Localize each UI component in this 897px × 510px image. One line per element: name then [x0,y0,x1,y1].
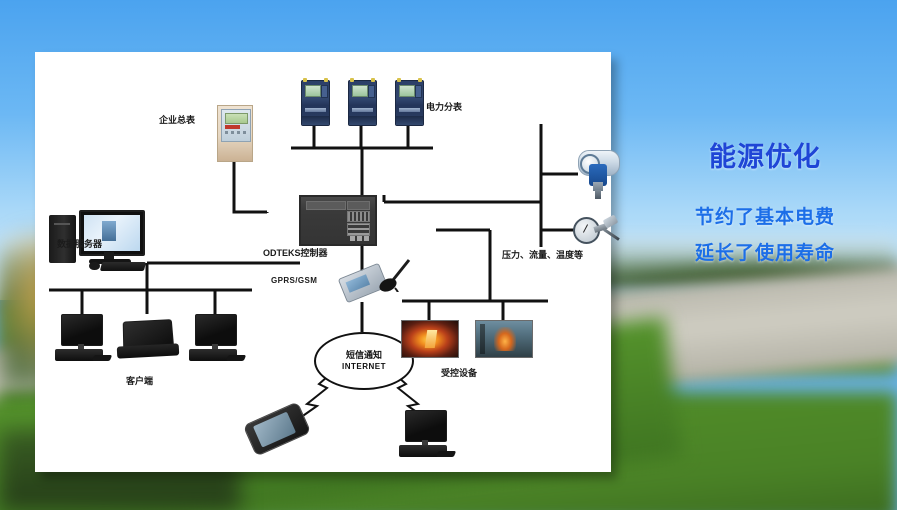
furnace[interactable] [401,320,459,358]
plant-photo [475,320,533,358]
mobile-phone[interactable] [247,412,307,446]
main-meter-face [221,109,251,142]
remote-pc[interactable] [399,410,453,458]
remote-pc-icon [399,410,453,458]
controller-terminal-block [347,211,370,222]
gauge-rod [603,228,620,241]
client-pc-1[interactable] [55,314,109,362]
internet-label-cn: 短信通知 [346,349,382,361]
plant[interactable] [475,320,533,358]
transmitter-tip [595,190,601,199]
client-pc-icon [189,314,243,362]
meter-seal-right-icon [371,78,375,82]
diagram-panel: 企业总表 [35,52,611,472]
laptop-icon [117,320,179,360]
client-screen [61,314,103,346]
server-keyboard [100,262,146,271]
meter-base [349,116,376,125]
network-topology-diagram: 企业总表 [35,52,611,472]
meter-strip [305,108,326,112]
caption-line-2: 延长了使用寿命 [640,236,890,272]
controller-buttons [350,236,369,241]
client-screen [195,314,237,346]
meter-seal-right-icon [418,78,422,82]
sub-meter-3[interactable] [395,80,424,126]
caption-block: 能源优化 节约了基本电费 延长了使用寿命 [640,140,890,272]
electric-meter-icon [301,80,330,126]
pressure-gauge-icon [573,215,619,245]
controller-icon [299,195,377,246]
server-mouse [89,262,100,270]
controller-label: ODTEKS控制器 [263,246,328,259]
caption-headline: 能源优化 [640,140,890,174]
laptop-base [117,343,180,358]
gprs-label: GPRS/GSM [271,276,317,285]
controlled-equipment-label: 受控设备 [441,366,477,379]
internet-label-en: INTERNET [342,361,386,373]
main-meter-indicator [225,125,240,129]
furnace-photo [401,320,459,358]
meter-base [396,116,423,125]
gprs-gsm-modem[interactable] [341,270,385,296]
meter-seal-left-icon [350,78,354,82]
client-tower [55,349,103,361]
pressure-transmitter[interactable] [576,148,620,200]
slide-canvas: 企业总表 [0,0,897,510]
client-laptop[interactable] [117,320,179,360]
controller-keypad [347,223,370,236]
electric-meter-icon [395,80,424,126]
controller-display-secondary [347,201,370,210]
sub-meter-2[interactable] [348,80,377,126]
remote-pc-tower [399,445,447,457]
main-meter-label: 企业总表 [159,113,195,126]
meter-seal-left-icon [303,78,307,82]
meter-seal-left-icon [397,78,401,82]
main-meter-icon [217,105,253,162]
pressure-transmitter-icon [576,148,620,200]
controller-display [306,201,346,210]
gauge-probe [603,214,619,228]
internet-cloud[interactable]: 短信通知 INTERNET [314,332,414,390]
client-tower [189,349,237,361]
antenna-icon [371,258,431,292]
meter-strip [352,108,373,112]
main-meter[interactable] [217,105,253,162]
clients-label: 客户端 [126,374,153,387]
main-meter-lcd [225,113,248,124]
main-meter-buttons [225,131,247,134]
meter-strip [399,108,420,112]
pressure-gauge[interactable] [573,215,619,245]
meter-seal-right-icon [324,78,328,82]
caption-line-1: 节约了基本电费 [640,200,890,236]
odteks-controller[interactable] [299,195,377,246]
client-pc-2[interactable] [189,314,243,362]
sub-meter-1[interactable] [301,80,330,126]
sensors-label: 压力、流量、温度等 [502,248,583,261]
client-pc-icon [55,314,109,362]
remote-pc-screen [405,410,447,442]
sub-meter-label: 电力分表 [426,100,462,113]
data-server-label: 数据服务器 [57,237,102,250]
electric-meter-icon [348,80,377,126]
meter-base [302,116,329,125]
